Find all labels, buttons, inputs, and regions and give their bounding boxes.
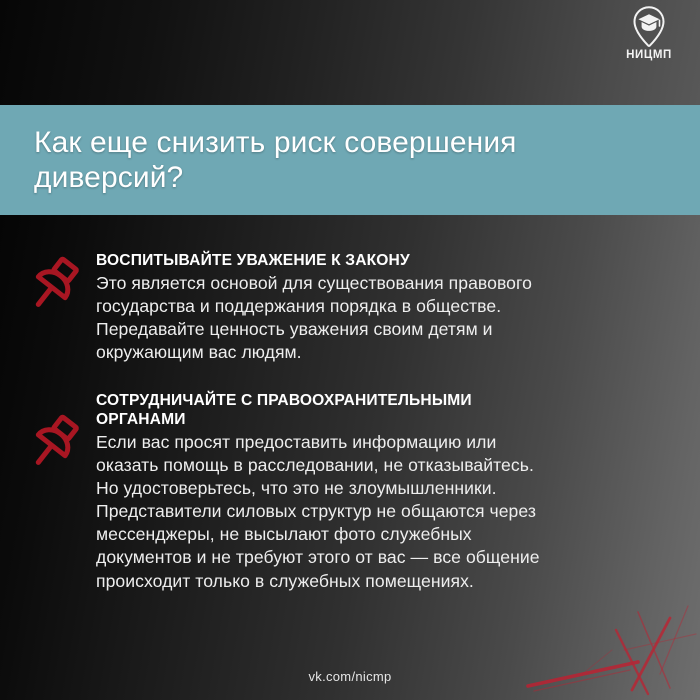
advice-heading: СОТРУДНИЧАЙТЕ С ПРАВООХРАНИТЕЛЬНЫМИ ОРГА… [96, 391, 676, 429]
advice-text: СОТРУДНИЧАЙТЕ С ПРАВООХРАНИТЕЛЬНЫМИ ОРГА… [96, 390, 676, 592]
advice-block: ВОСПИТЫВАЙТЕ УВАЖЕНИЕ К ЗАКОНУ Это являе… [0, 250, 700, 364]
title-banner: Как еще снизить риск совершения диверсий… [0, 105, 700, 215]
content-area: ВОСПИТЫВАЙТЕ УВАЖЕНИЕ К ЗАКОНУ Это являе… [0, 215, 700, 655]
brand-logo: НИЦМП [616, 5, 682, 67]
pushpin-icon [24, 254, 86, 316]
pin-icon-wrap [14, 390, 96, 470]
advice-text: ВОСПИТЫВАЙТЕ УВАЖЕНИЕ К ЗАКОНУ Это являе… [96, 250, 676, 364]
top-header-band: НИЦМП [0, 0, 700, 105]
vk-link[interactable]: vk.com/nicmp [308, 669, 391, 684]
page-title: Как еще снизить риск совершения диверсий… [0, 125, 551, 195]
advice-body: Если вас просят предоставить информацию … [96, 431, 676, 592]
pushpin-icon [24, 412, 86, 474]
pin-icon-wrap [14, 250, 96, 330]
advice-body: Это является основой для существования п… [96, 272, 676, 364]
graduation-cap-pin-icon [628, 5, 670, 49]
footer: vk.com/nicmp [0, 668, 700, 686]
poster-canvas: НИЦМП Как еще снизить риск совершения ди… [0, 0, 700, 700]
brand-name: НИЦМП [626, 50, 672, 62]
advice-block: СОТРУДНИЧАЙТЕ С ПРАВООХРАНИТЕЛЬНЫМИ ОРГА… [0, 390, 700, 592]
advice-heading: ВОСПИТЫВАЙТЕ УВАЖЕНИЕ К ЗАКОНУ [96, 251, 676, 270]
